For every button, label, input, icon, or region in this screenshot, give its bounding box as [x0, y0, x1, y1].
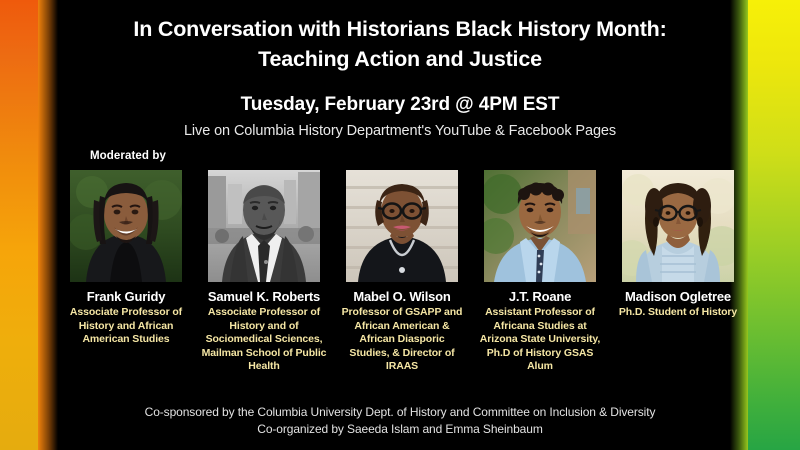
speaker-name: J.T. Roane [509, 289, 571, 304]
photo-samuel-k-roberts [208, 170, 320, 282]
event-flyer: In Conversation with Historians Black Hi… [0, 0, 800, 450]
speaker-name: Madison Ogletree [625, 289, 731, 304]
event-title-line-1: In Conversation with Historians Black Hi… [70, 14, 730, 44]
speaker-title: Associate Professor of History and of So… [200, 306, 328, 374]
photo-mabel-o-wilson [346, 170, 458, 282]
coorganizer-line: Co-organized by Saeeda Islam and Emma Sh… [70, 421, 730, 438]
speaker-title: Assistant Professor of Africana Studies … [476, 306, 604, 374]
portrait-illustration [208, 170, 320, 282]
portrait-illustration [346, 170, 458, 282]
portrait-illustration [484, 170, 596, 282]
speaker-card: Mabel O. Wilson Professor of GSAPP and A… [338, 170, 466, 374]
speaker-card: Samuel K. Roberts Associate Professor of… [200, 170, 328, 374]
event-title: In Conversation with Historians Black Hi… [70, 14, 730, 74]
speaker-title: Associate Professor of History and Afric… [62, 306, 190, 347]
speaker-card: J.T. Roane Assistant Professor of Africa… [476, 170, 604, 374]
event-stream-info: Live on Columbia History Department's Yo… [70, 123, 730, 139]
event-title-line-2: Teaching Action and Justice [70, 44, 730, 74]
left-gradient-fade [38, 0, 58, 450]
speaker-title: Ph.D. Student of History [619, 306, 737, 320]
flyer-header: In Conversation with Historians Black Hi… [70, 0, 730, 139]
speaker-list: Frank Guridy Associate Professor of Hist… [62, 170, 742, 374]
speaker-title: Professor of GSAPP and African American … [338, 306, 466, 374]
flyer-footer: Co-sponsored by the Columbia University … [70, 404, 730, 438]
speaker-name: Frank Guridy [87, 289, 166, 304]
photo-madison-ogletree [622, 170, 734, 282]
photo-jt-roane [484, 170, 596, 282]
left-gradient-bar [0, 0, 38, 450]
moderated-by-label: Moderated by [90, 150, 166, 162]
portrait-illustration [622, 170, 734, 282]
right-gradient-bar [748, 0, 800, 450]
photo-frank-guridy [70, 170, 182, 282]
event-datetime: Tuesday, February 23rd @ 4PM EST [70, 94, 730, 116]
speaker-name: Samuel K. Roberts [208, 289, 320, 304]
cosponsor-line: Co-sponsored by the Columbia University … [70, 404, 730, 421]
speaker-card: Frank Guridy Associate Professor of Hist… [62, 170, 190, 347]
portrait-illustration [70, 170, 182, 282]
speaker-card: Madison Ogletree Ph.D. Student of Histor… [614, 170, 742, 320]
speaker-name: Mabel O. Wilson [353, 289, 450, 304]
